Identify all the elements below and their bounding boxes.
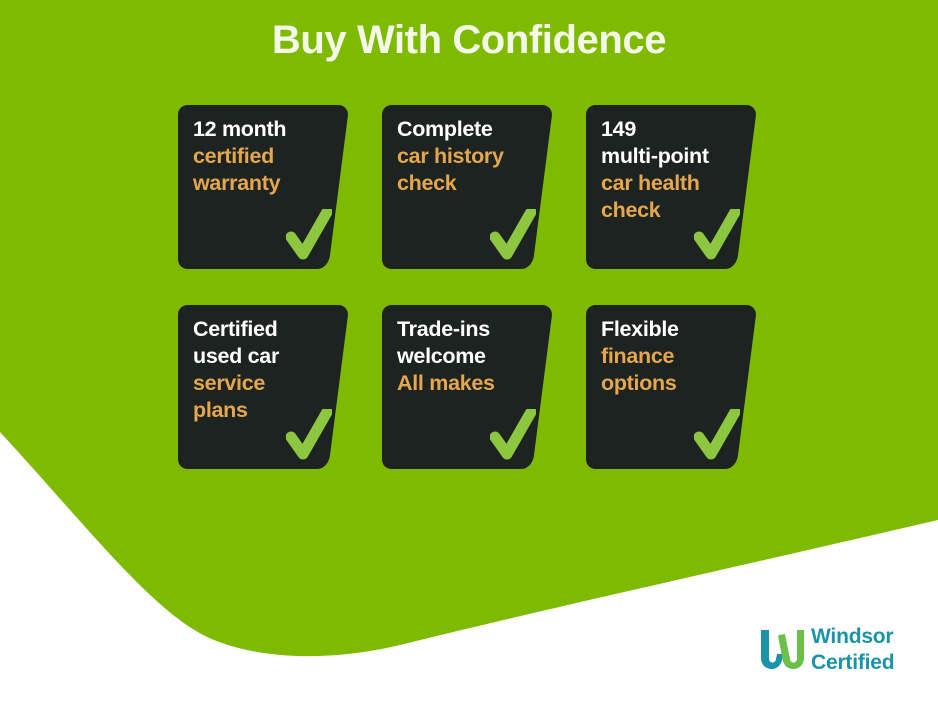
card-line: Certified <box>193 316 343 343</box>
card-text-block: 12 month certified warranty <box>193 116 343 197</box>
feature-card-12-month-certified-warranty[interactable]: 12 month certified warranty <box>178 105 358 269</box>
card-line: warranty <box>193 170 343 197</box>
card-line: welcome <box>397 343 547 370</box>
check-icon <box>490 209 536 263</box>
feature-card-complete-car-history-check[interactable]: Complete car history check <box>382 105 562 269</box>
card-line: 12 month <box>193 116 343 143</box>
card-text-block: Flexible finance options <box>601 316 751 397</box>
check-icon <box>694 409 740 463</box>
feature-card-certified-used-car-service-plans[interactable]: Certified used car service plans <box>178 305 358 469</box>
check-icon <box>286 209 332 263</box>
brand-name-line1: Windsor <box>811 624 894 650</box>
check-icon <box>490 409 536 463</box>
card-text-block: Trade-ins welcome All makes <box>397 316 547 397</box>
card-line: used car <box>193 343 343 370</box>
feature-card-149-multi-point-car-health-check[interactable]: 149 multi-point car health check <box>586 105 766 269</box>
feature-card-grid: 12 month certified warranty Complete car… <box>178 105 758 505</box>
card-row-2: Certified used car service plans Trade-i… <box>178 305 758 505</box>
card-line: service <box>193 370 343 397</box>
check-icon <box>694 209 740 263</box>
card-line: All makes <box>397 370 547 397</box>
card-line: multi-point <box>601 143 751 170</box>
card-line: Trade-ins <box>397 316 547 343</box>
card-line: car history <box>397 143 547 170</box>
feature-card-flexible-finance-options[interactable]: Flexible finance options <box>586 305 766 469</box>
brand-logo[interactable]: Windsor Certified <box>757 622 929 680</box>
card-line: 149 <box>601 116 751 143</box>
card-row-1: 12 month certified warranty Complete car… <box>178 105 758 305</box>
check-icon <box>286 409 332 463</box>
page-title: Buy With Confidence <box>0 18 938 63</box>
card-line: certified <box>193 143 343 170</box>
card-line: Flexible <box>601 316 751 343</box>
card-line: finance <box>601 343 751 370</box>
card-line: car health <box>601 170 751 197</box>
card-line: Complete <box>397 116 547 143</box>
promo-banner: Buy With Confidence 12 month certified w… <box>0 0 938 704</box>
brand-logo-text: Windsor Certified <box>811 624 894 675</box>
card-text-block: Complete car history check <box>397 116 547 197</box>
feature-card-trade-ins-welcome-all-makes[interactable]: Trade-ins welcome All makes <box>382 305 562 469</box>
brand-name-line2: Certified <box>811 650 894 676</box>
card-line: check <box>397 170 547 197</box>
card-line: options <box>601 370 751 397</box>
windsor-w-icon <box>757 627 805 671</box>
